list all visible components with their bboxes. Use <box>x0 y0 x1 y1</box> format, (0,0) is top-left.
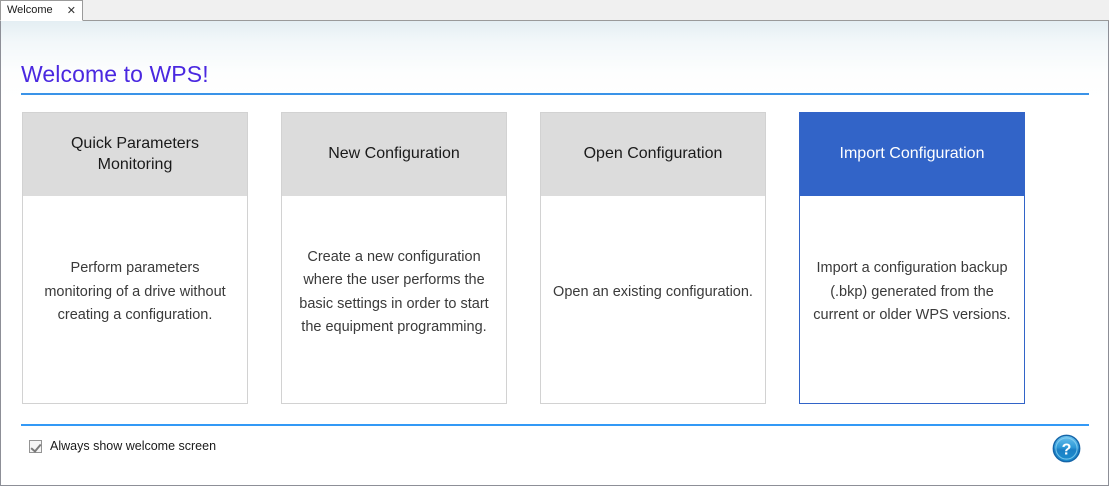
tab-welcome[interactable]: Welcome ✕ <box>0 0 83 21</box>
card-description: Import a configuration backup (.bkp) gen… <box>800 196 1024 403</box>
card-description: Create a new configuration where the use… <box>282 196 506 403</box>
card-open-configuration[interactable]: Open Configuration Open an existing conf… <box>540 112 766 404</box>
tab-welcome-label: Welcome <box>7 5 53 16</box>
card-description: Open an existing configuration. <box>541 196 765 403</box>
page-title: Welcome to WPS! <box>21 61 209 88</box>
always-show-welcome-screen-row[interactable]: Always show welcome screen <box>29 439 216 453</box>
card-new-configuration[interactable]: New Configuration Create a new configura… <box>281 112 507 404</box>
card-list: Quick Parameters Monitoring Perform para… <box>22 112 1088 404</box>
card-title: New Configuration <box>282 113 506 196</box>
help-icon: ? <box>1052 434 1081 463</box>
help-button[interactable]: ? <box>1052 434 1081 463</box>
card-import-configuration[interactable]: Import Configuration Import a configurat… <box>799 112 1025 404</box>
always-show-welcome-screen-label: Always show welcome screen <box>50 439 216 453</box>
close-icon[interactable]: ✕ <box>67 5 76 16</box>
title-divider <box>21 93 1089 95</box>
card-quick-parameters-monitoring[interactable]: Quick Parameters Monitoring Perform para… <box>22 112 248 404</box>
svg-text:?: ? <box>1062 442 1072 459</box>
always-show-welcome-screen-checkbox[interactable] <box>29 440 42 453</box>
card-description: Perform parameters monitoring of a drive… <box>23 196 247 403</box>
card-title: Quick Parameters Monitoring <box>23 113 247 196</box>
tab-strip: Welcome ✕ <box>0 0 1109 21</box>
card-title: Open Configuration <box>541 113 765 196</box>
card-title: Import Configuration <box>800 113 1024 196</box>
footer-bar: Always show welcome screen ? <box>1 426 1109 484</box>
welcome-window: Welcome to WPS! Quick Parameters Monitor… <box>0 21 1109 486</box>
